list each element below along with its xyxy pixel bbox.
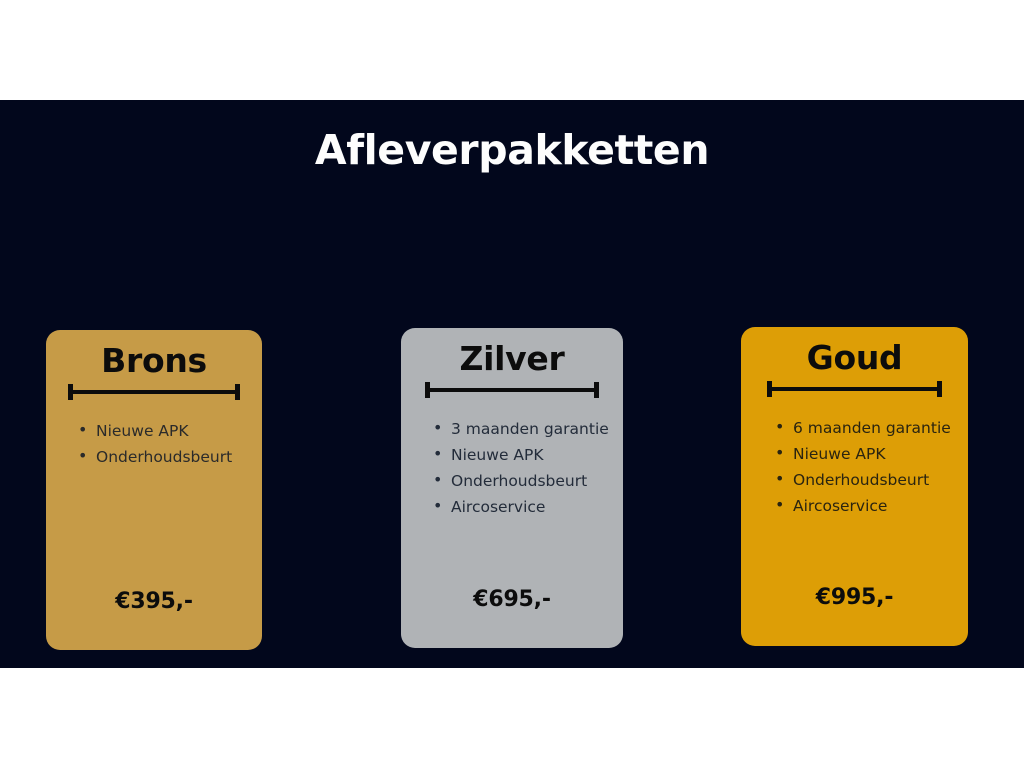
package-price-brons: €395,- — [46, 589, 262, 614]
package-title-goud: Goud — [741, 339, 968, 377]
page-title: Afleverpakketten — [0, 126, 1024, 174]
list-item: Onderhoudsbeurt — [74, 444, 252, 470]
package-title-zilver: Zilver — [401, 340, 623, 378]
list-item: Nieuwe APK — [771, 441, 958, 467]
divider-bar — [767, 387, 942, 391]
footer-notes: •Al onze occasions worden afgeleverd inc… — [0, 688, 1024, 738]
package-title-brons: Brons — [46, 342, 262, 380]
feature-list-brons: Nieuwe APK Onderhoudsbeurt — [74, 418, 252, 470]
slide-page: Afleverpakketten Brons Nieuwe APK Onderh… — [0, 0, 1024, 768]
divider-cap-right — [937, 381, 942, 397]
divider-bar — [425, 388, 599, 392]
divider-cap-right — [594, 382, 599, 398]
footer-note-2: •Garantie bepaling op motor en versnelli… — [0, 713, 1024, 738]
list-item: Onderhoudsbeurt — [771, 467, 958, 493]
list-item: 3 maanden garantie — [429, 416, 613, 442]
slide-canvas: Afleverpakketten Brons Nieuwe APK Onderh… — [0, 100, 1024, 668]
feature-list-goud: 6 maanden garantie Nieuwe APK Onderhouds… — [771, 415, 958, 519]
list-item: Nieuwe APK — [429, 442, 613, 468]
package-card-brons[interactable]: Brons Nieuwe APK Onderhoudsbeurt €395,- — [46, 330, 262, 650]
ibeam-divider-icon — [767, 381, 942, 397]
ibeam-divider-icon — [425, 382, 599, 398]
ibeam-divider-icon — [68, 384, 240, 400]
package-price-goud: €995,- — [741, 585, 968, 610]
divider-bar — [68, 390, 240, 394]
feature-list-zilver: 3 maanden garantie Nieuwe APK Onderhouds… — [429, 416, 613, 520]
divider-cap-right — [235, 384, 240, 400]
list-item: Aircoservice — [771, 493, 958, 519]
package-card-goud[interactable]: Goud 6 maanden garantie Nieuwe APK Onder… — [741, 327, 968, 646]
package-price-zilver: €695,- — [401, 587, 623, 612]
footer-note-1: •Al onze occasions worden afgeleverd inc… — [0, 688, 1024, 713]
list-item: 6 maanden garantie — [771, 415, 958, 441]
bullet-icon: • — [296, 714, 305, 737]
list-item: Aircoservice — [429, 494, 613, 520]
list-item: Onderhoudsbeurt — [429, 468, 613, 494]
list-item: Nieuwe APK — [74, 418, 252, 444]
footer-note-2-text: Garantie bepaling op motor en versnellin… — [314, 716, 728, 734]
bullet-icon: • — [183, 689, 192, 712]
package-card-zilver[interactable]: Zilver 3 maanden garantie Nieuwe APK Ond… — [401, 328, 623, 648]
footer-note-1-text: Al onze occasions worden afgeleverd incl… — [200, 691, 841, 709]
